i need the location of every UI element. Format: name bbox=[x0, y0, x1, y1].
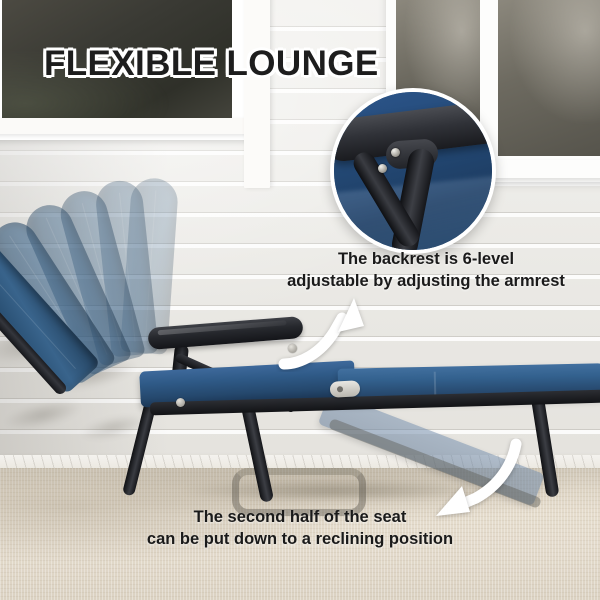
callout-backrest-line1: The backrest is 6-level bbox=[252, 248, 600, 270]
page-title: FLEXIBLE LOUNGE bbox=[44, 44, 379, 84]
callout-backrest: The backrest is 6-level adjustable by ad… bbox=[252, 248, 600, 293]
product-feature-image: FLEXIBLE LOUNGE The backrest is 6-level … bbox=[0, 0, 600, 600]
armrest bbox=[147, 316, 303, 350]
callout-backrest-line2: adjustable by adjusting the armrest bbox=[252, 270, 600, 292]
armrest-hinge-closeup-circle bbox=[330, 88, 496, 254]
callout-footrest: The second half of the seat can be put d… bbox=[110, 506, 490, 551]
callout-footrest-line1: The second half of the seat bbox=[110, 506, 490, 528]
armrest-highlight bbox=[158, 320, 287, 335]
seat-seam bbox=[434, 372, 437, 396]
armrest-hinge-screw bbox=[288, 344, 297, 353]
callout-footrest-line2: can be put down to a reclining position bbox=[110, 528, 490, 550]
seat-hinge-screw bbox=[176, 398, 185, 407]
closeup-screw-lower bbox=[378, 164, 387, 173]
closeup-screw-upper bbox=[391, 148, 400, 157]
seat-adjust-knob bbox=[330, 380, 361, 398]
